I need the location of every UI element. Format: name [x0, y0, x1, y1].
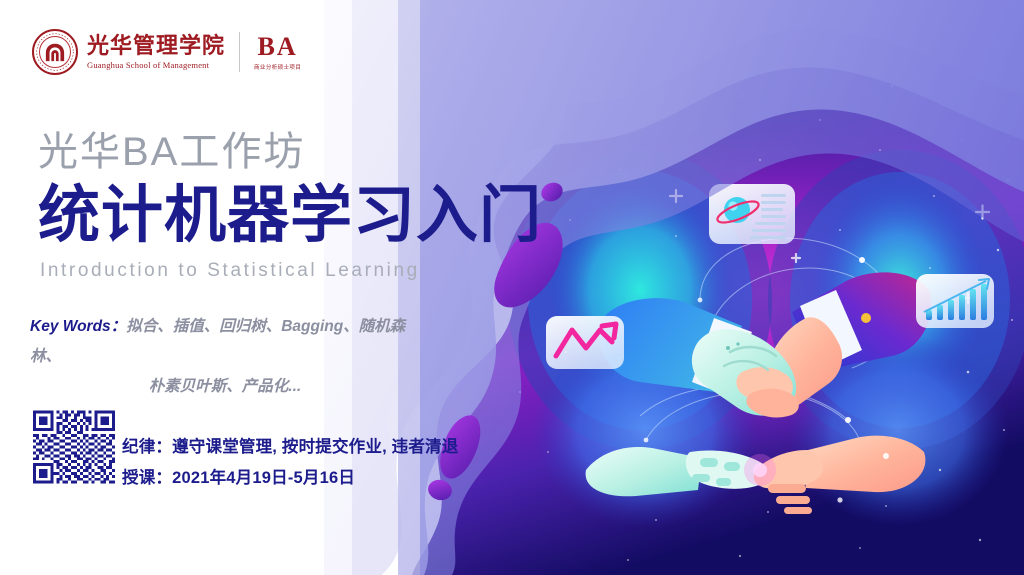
logo-ba-program-cn: 商业分析硕士项目: [254, 63, 301, 71]
bar-chart-card: [916, 274, 994, 328]
pku-seal-icon: [32, 29, 78, 75]
logo-school-text: 光华管理学院 Guanghua School of Management: [87, 35, 225, 70]
logo-ba-block: BA 商业分析硕士项目: [254, 34, 301, 71]
discipline-line: 纪律：遵守课堂管理, 按时提交作业, 违者清退: [122, 432, 458, 463]
page-title: 统计机器学习入门: [38, 185, 542, 247]
logo-ba-abbr: BA: [258, 34, 298, 60]
keywords-line-2: 朴素贝叶斯、产品化...: [30, 372, 430, 402]
trend-arrow-card: [546, 316, 624, 369]
qr-code-image: [33, 406, 115, 488]
course-info-block: 纪律：遵守课堂管理, 按时提交作业, 违者清退 授课：2021年4月19日-5月…: [122, 432, 458, 493]
keywords-block: Key Words：拟合、插值、回归树、Bagging、随机森林、 朴素贝叶斯、…: [30, 312, 430, 403]
title-english: Introduction to Statistical Learning: [40, 260, 420, 282]
keywords-label: Key Words：: [30, 318, 126, 335]
logo-school-cn: 光华管理学院: [87, 35, 225, 57]
logo-school-en: Guanghua School of Management: [87, 61, 225, 70]
planet-data-card: [709, 184, 795, 244]
qr-code[interactable]: [33, 406, 115, 488]
schedule-line: 授课：2021年4月19日-5月16日: [122, 463, 458, 494]
logo-bar: 光华管理学院 Guanghua School of Management BA …: [32, 26, 301, 78]
poster-canvas: 光华管理学院 Guanghua School of Management BA …: [0, 0, 1024, 575]
workshop-kicker: 光华BA工作坊: [38, 132, 305, 172]
logo-divider: [239, 32, 240, 72]
